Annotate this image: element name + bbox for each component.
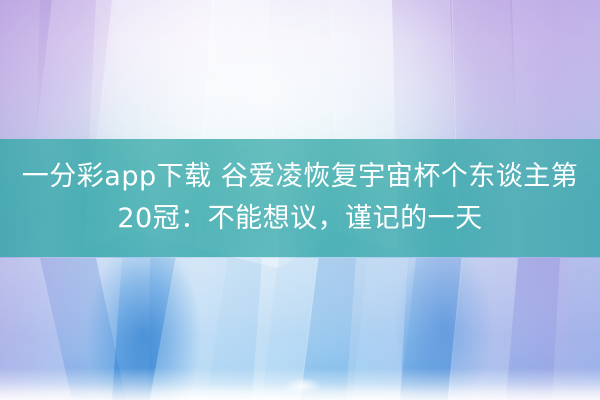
headline-line-2: 20冠：不能想议，谨记的一天 xyxy=(117,200,482,238)
headline-band-stripes xyxy=(0,139,600,257)
headline-line-1: 一分彩app下载 谷爱凌恢复宇宙杯个东谈主第 xyxy=(22,158,578,196)
headline-band: 一分彩app下载 谷爱凌恢复宇宙杯个东谈主第 20冠：不能想议，谨记的一天 xyxy=(0,139,600,257)
promo-banner: 一分彩app下载 谷爱凌恢复宇宙杯个东谈主第 20冠：不能想议，谨记的一天 xyxy=(0,0,600,400)
